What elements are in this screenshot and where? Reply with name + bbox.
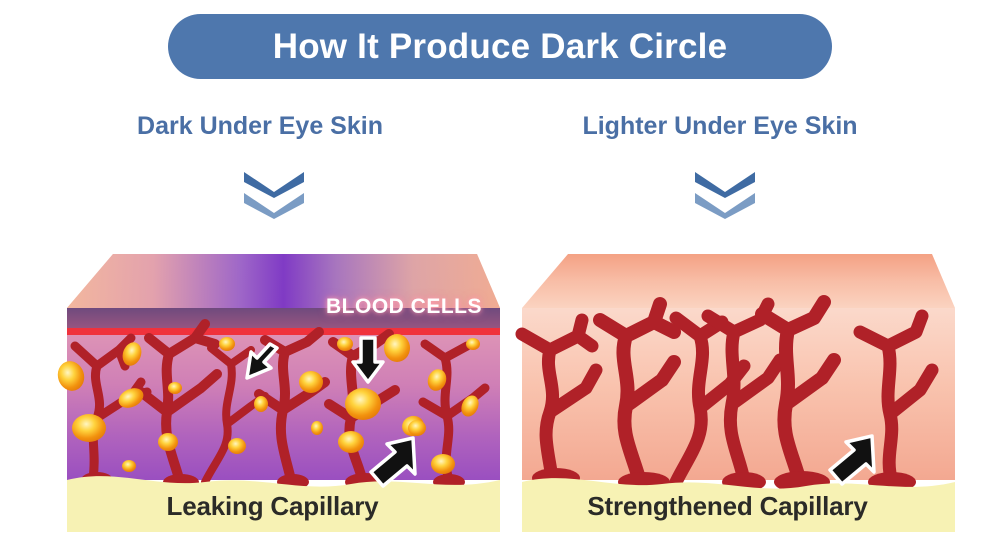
leaking-capillary-diagram [45,246,500,532]
heading-lighter-under-eye-skin: Lighter Under Eye Skin [500,112,940,141]
illustration-leaking-capillary: BLOOD CELLS Leaking Capillary [45,246,500,532]
title-banner: How It Produce Dark Circle [168,14,832,79]
infographic-page: How It Produce Dark Circle Dark Under Ey… [0,0,1000,538]
skin-slab-top [522,254,955,308]
chevron-down-icon-bottom [244,193,304,219]
skin-slab-top [67,254,500,308]
heading-dark-under-eye-skin: Dark Under Eye Skin [40,112,480,141]
double-chevron-down-icon-left [244,172,304,222]
page-title: How It Produce Dark Circle [273,27,728,67]
double-chevron-down-icon-right [695,172,755,222]
illustration-strengthened-capillary: Strengthened Capillary [500,246,955,532]
chevron-down-icon-bottom [695,193,755,219]
blood-cells-band [67,308,500,330]
strengthened-capillary-diagram [500,246,955,532]
subcutaneous-base [67,476,500,532]
